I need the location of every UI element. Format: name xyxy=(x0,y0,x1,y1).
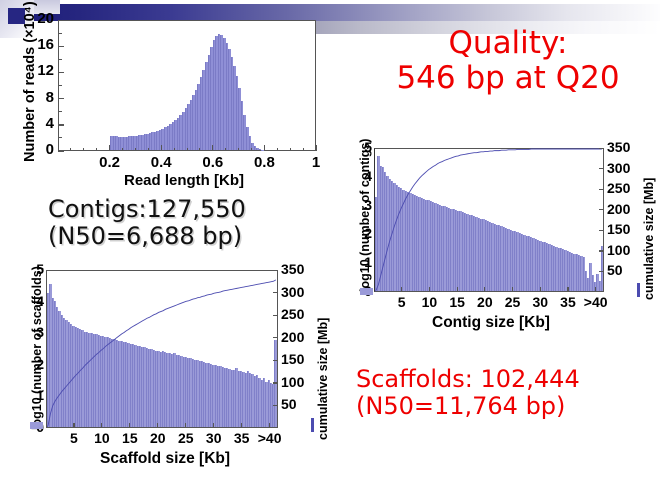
axis-tick-mark xyxy=(122,148,123,152)
axis-tick-mark xyxy=(148,148,149,152)
axis-tick-mark xyxy=(212,148,213,152)
contig-bar-legend-swatch xyxy=(360,288,373,295)
scaffold-plot-area xyxy=(46,270,278,428)
axis-tick-label: 150 xyxy=(607,221,637,237)
contig-plot-area xyxy=(374,148,604,292)
axis-tick-mark xyxy=(157,423,158,428)
axis-tick-mark xyxy=(303,148,304,152)
histogram-x-axis-label: Read length [Kb] xyxy=(124,172,244,189)
axis-tick-mark xyxy=(599,189,604,190)
axis-tick-label: 200 xyxy=(281,329,311,345)
axis-tick-label: 200 xyxy=(607,201,637,217)
axis-tick-label: 100 xyxy=(281,374,311,390)
axis-tick-label: 0.2 xyxy=(95,154,125,171)
axis-tick-mark xyxy=(512,287,513,292)
axis-tick-mark xyxy=(273,382,278,383)
axis-tick-mark xyxy=(599,250,604,251)
axis-tick-mark xyxy=(58,85,62,86)
axis-tick-mark xyxy=(599,209,604,210)
axis-tick-mark xyxy=(83,148,84,152)
axis-tick-mark xyxy=(129,423,130,428)
axis-tick-label: 1 xyxy=(301,154,331,171)
axis-tick-mark xyxy=(273,292,278,293)
axis-tick-mark xyxy=(599,168,604,169)
axis-tick-label: 0.4 xyxy=(146,154,176,171)
scaffold-bar-legend-swatch xyxy=(30,422,43,429)
axis-tick-mark xyxy=(567,287,568,292)
contig-x-axis-label: Contig size [Kb] xyxy=(432,314,550,332)
contig-right-axis-label: cumulative size [Mb] xyxy=(642,178,656,300)
axis-tick-mark xyxy=(213,423,214,428)
axis-tick-mark xyxy=(241,423,242,428)
axis-tick-mark xyxy=(315,145,316,151)
slide-canvas: 048121620 0.20.40.60.81 Read length [Kb]… xyxy=(0,0,660,480)
histogram-y-axis-label: Number of reads (×10⁴) xyxy=(22,1,38,162)
axis-tick-mark xyxy=(58,137,62,138)
axis-tick-label: 350 xyxy=(281,261,311,277)
axis-tick-mark xyxy=(58,46,62,47)
axis-tick-label: 250 xyxy=(607,180,637,196)
axis-tick-mark xyxy=(457,287,458,292)
read-length-histogram: 048121620 0.20.40.60.81 Read length [Kb]… xyxy=(6,14,326,192)
axis-tick-label: 300 xyxy=(607,160,637,176)
axis-tick-mark xyxy=(187,148,188,152)
axis-tick-mark xyxy=(599,148,604,149)
axis-tick-mark xyxy=(273,405,278,406)
contigs-callout: Contigs:127,550 (N50=6,688 bp) xyxy=(48,196,328,250)
axis-tick-label: >40 xyxy=(254,430,286,446)
axis-tick-label: 250 xyxy=(281,306,311,322)
axis-tick-mark xyxy=(58,151,64,152)
scaffold-size-distribution-chart: 012345 50100150200250300350 510152025303… xyxy=(8,262,330,474)
axis-tick-mark xyxy=(238,148,239,152)
axis-tick-mark xyxy=(401,287,402,292)
axis-tick-label: 350 xyxy=(607,139,637,155)
axis-tick-mark xyxy=(70,148,71,152)
axis-tick-mark xyxy=(58,98,62,99)
axis-tick-mark xyxy=(290,148,291,152)
axis-tick-mark xyxy=(109,148,110,152)
scaffold-line-legend-swatch xyxy=(311,418,314,432)
axis-tick-mark xyxy=(185,423,186,428)
axis-tick-mark xyxy=(174,148,175,152)
axis-tick-mark xyxy=(599,230,604,231)
axis-tick-mark xyxy=(269,423,270,428)
axis-tick-mark xyxy=(58,111,62,112)
contig-line-legend-swatch xyxy=(637,283,640,297)
axis-tick-label: 50 xyxy=(607,262,637,278)
axis-tick-mark xyxy=(58,59,62,60)
axis-tick-mark xyxy=(264,148,265,152)
axis-tick-label: >40 xyxy=(580,294,612,310)
axis-tick-mark xyxy=(101,423,102,428)
axis-tick-mark xyxy=(96,148,97,152)
scaffold-left-axis-label: log10 (number of scaffolds) xyxy=(30,266,44,430)
axis-tick-mark xyxy=(161,148,162,152)
axis-tick-mark xyxy=(429,287,430,292)
quality-callout: Quality: 546 bp at Q20 xyxy=(360,26,656,95)
axis-tick-mark xyxy=(58,33,62,34)
contig-size-distribution-chart: 012345 50100150200250300350 510152025303… xyxy=(352,140,658,340)
axis-tick-mark xyxy=(599,271,604,272)
histogram-plot-area xyxy=(58,20,316,151)
contig-left-axis-label: log10 (number of contigs) xyxy=(358,139,372,292)
scaffold-x-axis-label: Scaffold size [Kb] xyxy=(100,450,230,468)
axis-tick-mark xyxy=(277,148,278,152)
axis-tick-mark xyxy=(58,72,62,73)
scaffold-cumulative-curve xyxy=(47,271,277,427)
scaffolds-callout: Scaffolds: 102,444 (N50=11,764 bp) xyxy=(356,366,656,420)
contig-cumulative-curve xyxy=(375,149,603,291)
axis-tick-label: 100 xyxy=(607,242,637,258)
axis-tick-mark xyxy=(540,287,541,292)
axis-tick-label: 150 xyxy=(281,351,311,367)
axis-tick-mark xyxy=(595,287,596,292)
axis-tick-mark xyxy=(58,20,64,21)
axis-tick-label: 0.6 xyxy=(198,154,228,171)
axis-tick-label: 50 xyxy=(281,396,311,412)
scaffold-right-axis-label: cumulative size [Mb] xyxy=(316,318,330,440)
axis-tick-mark xyxy=(251,148,252,152)
axis-tick-mark xyxy=(273,270,278,271)
axis-tick-mark xyxy=(58,124,62,125)
axis-tick-label: 0.8 xyxy=(249,154,279,171)
axis-tick-mark xyxy=(273,337,278,338)
axis-tick-mark xyxy=(135,148,136,152)
axis-tick-mark xyxy=(273,360,278,361)
axis-tick-mark xyxy=(484,287,485,292)
histogram-bars xyxy=(110,21,264,150)
axis-tick-mark xyxy=(199,148,200,152)
axis-tick-mark xyxy=(73,423,74,428)
axis-tick-mark xyxy=(225,148,226,152)
axis-tick-label: 300 xyxy=(281,284,311,300)
axis-tick-mark xyxy=(273,315,278,316)
